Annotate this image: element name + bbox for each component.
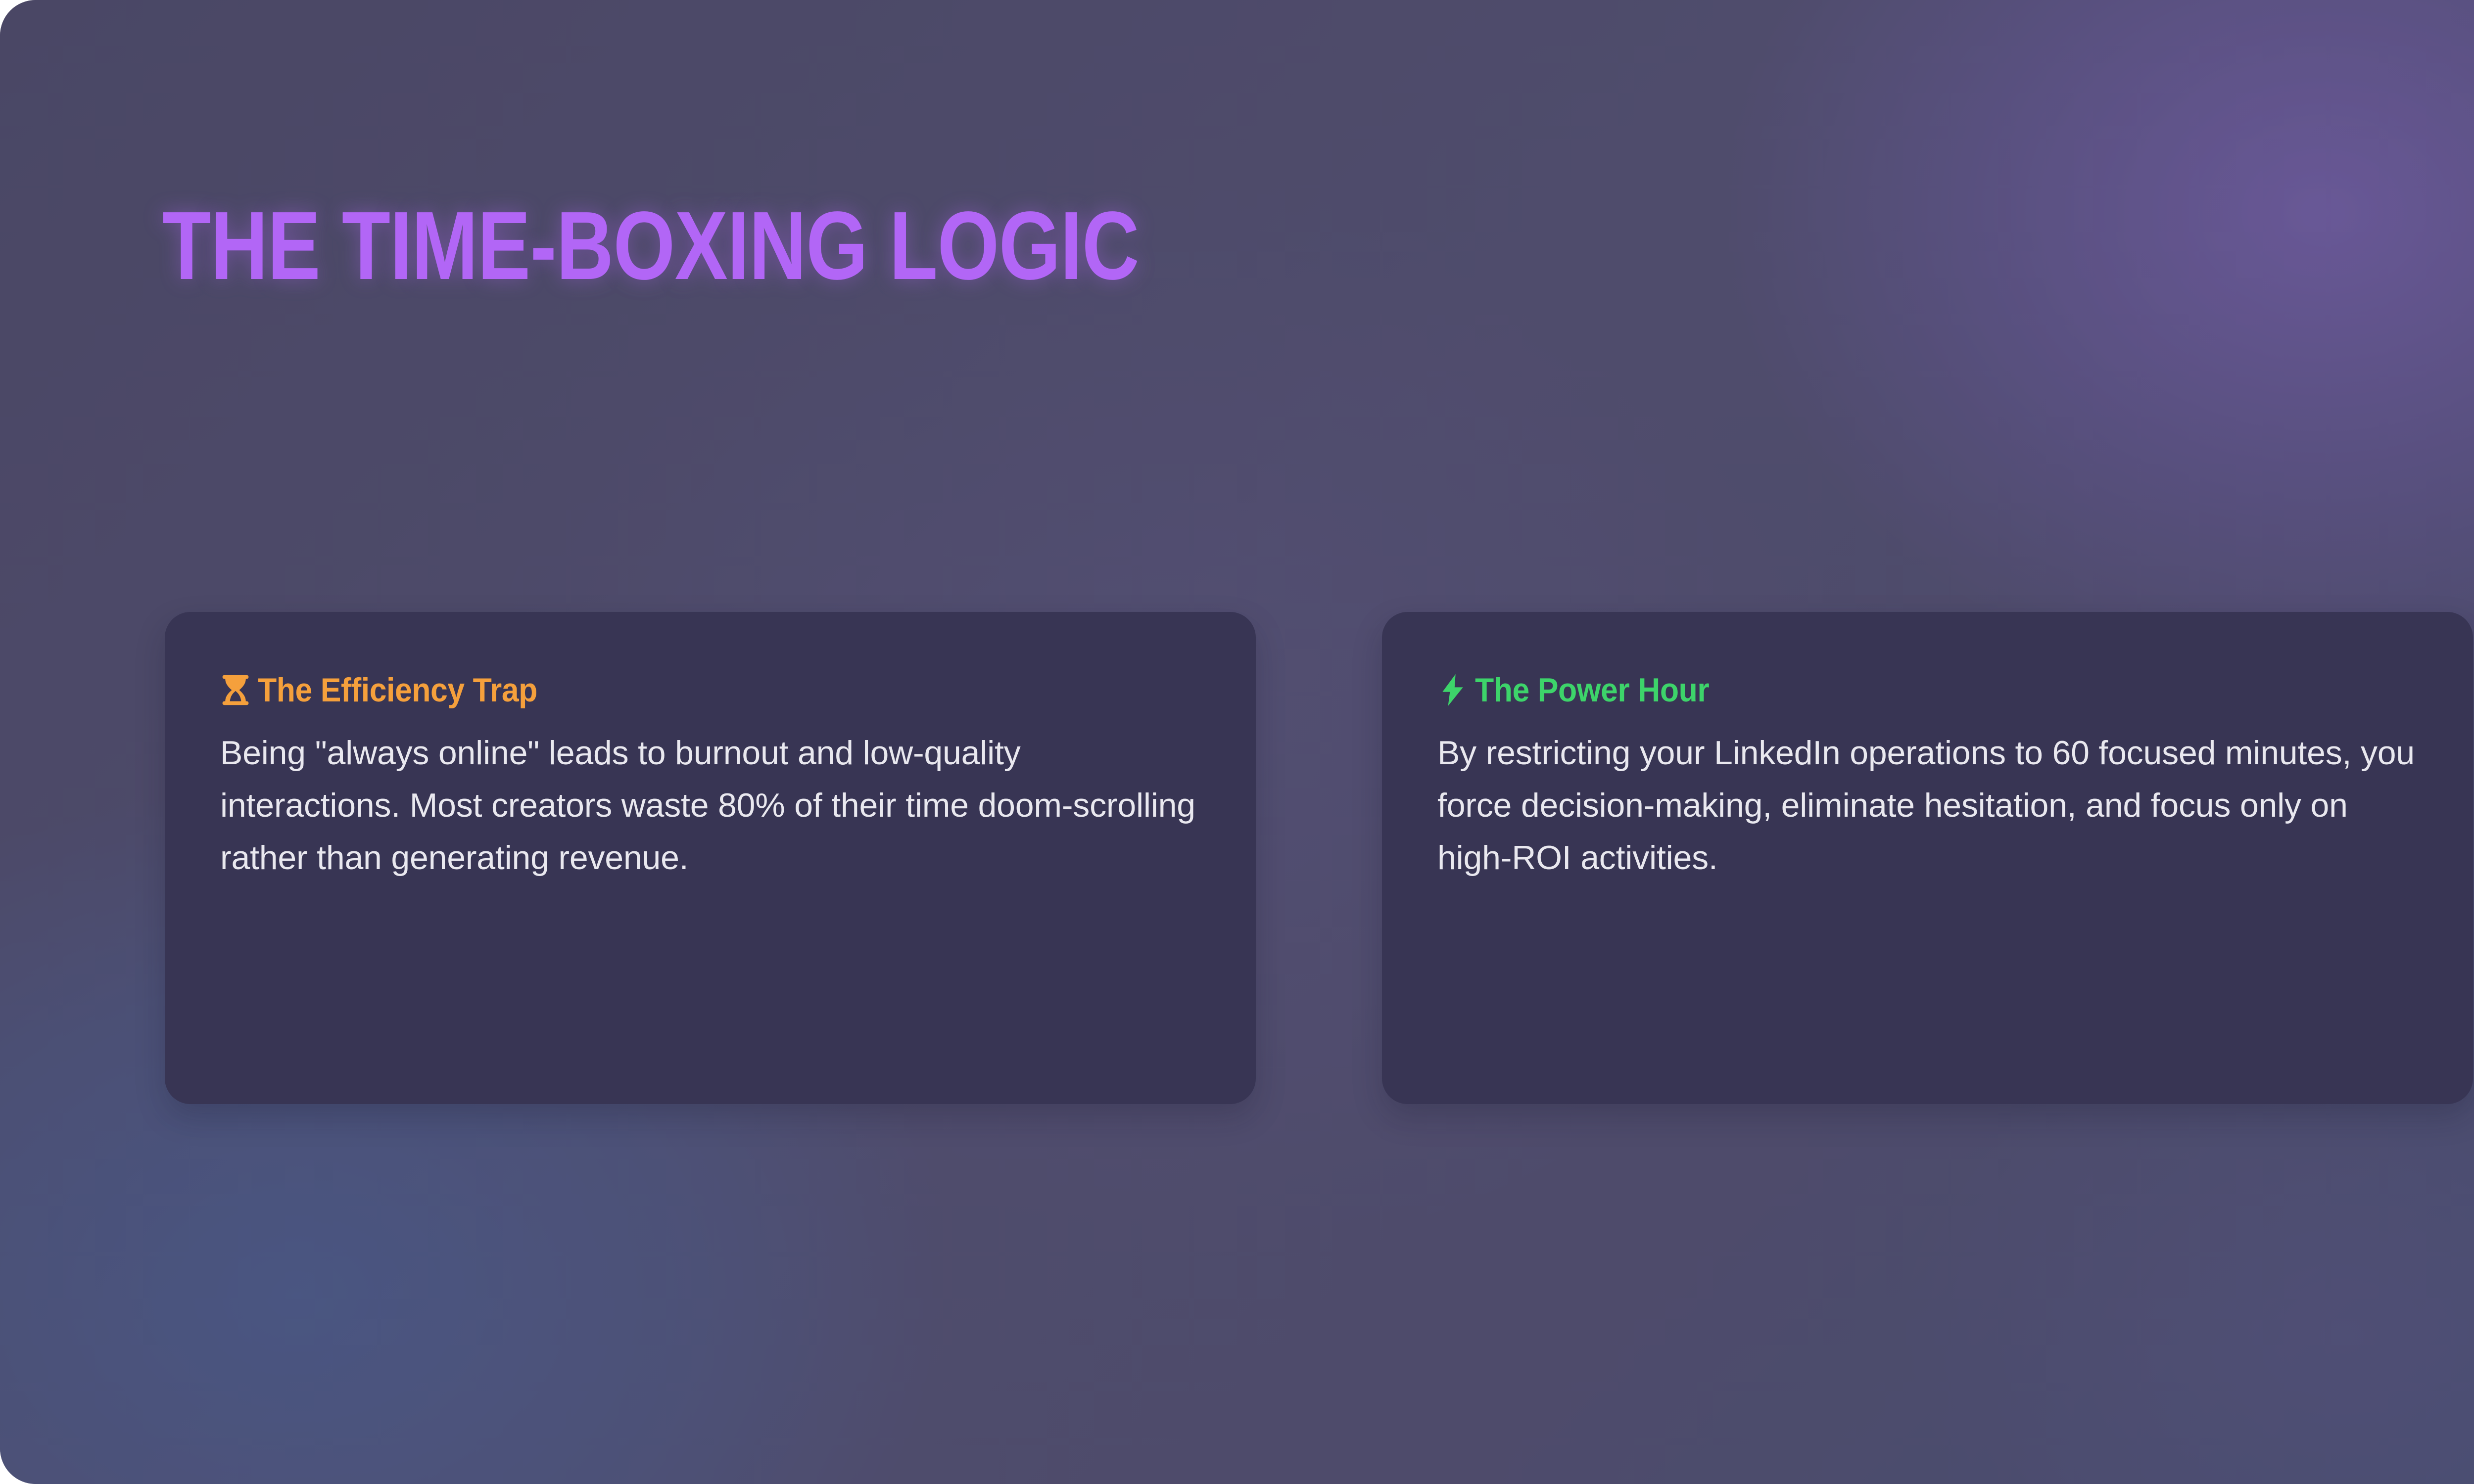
card-heading-power-hour: The Power Hour bbox=[1437, 670, 2419, 710]
card-heading-efficiency-trap: The Efficiency Trap bbox=[220, 670, 1201, 710]
card-efficiency-trap: The Efficiency Trap Being "always online… bbox=[165, 612, 1256, 1104]
lightning-bolt-icon bbox=[1437, 673, 1468, 707]
slide: THE TIME-BOXING LOGIC The Efficiency Tra… bbox=[0, 0, 2474, 1484]
card-grid: The Efficiency Trap Being "always online… bbox=[165, 612, 2473, 1104]
card-body-efficiency-trap: Being "always online" leads to burnout a… bbox=[220, 727, 1201, 884]
card-body-power-hour: By restricting your LinkedIn operations … bbox=[1437, 727, 2419, 884]
card-heading-label-power-hour: The Power Hour bbox=[1475, 670, 1709, 710]
hourglass-icon bbox=[220, 673, 251, 707]
slide-content: THE TIME-BOXING LOGIC The Efficiency Tra… bbox=[0, 0, 2474, 1484]
slide-title: THE TIME-BOXING LOGIC bbox=[162, 197, 1139, 294]
card-heading-label-efficiency-trap: The Efficiency Trap bbox=[258, 670, 537, 710]
card-power-hour: The Power Hour By restricting your Linke… bbox=[1382, 612, 2473, 1104]
